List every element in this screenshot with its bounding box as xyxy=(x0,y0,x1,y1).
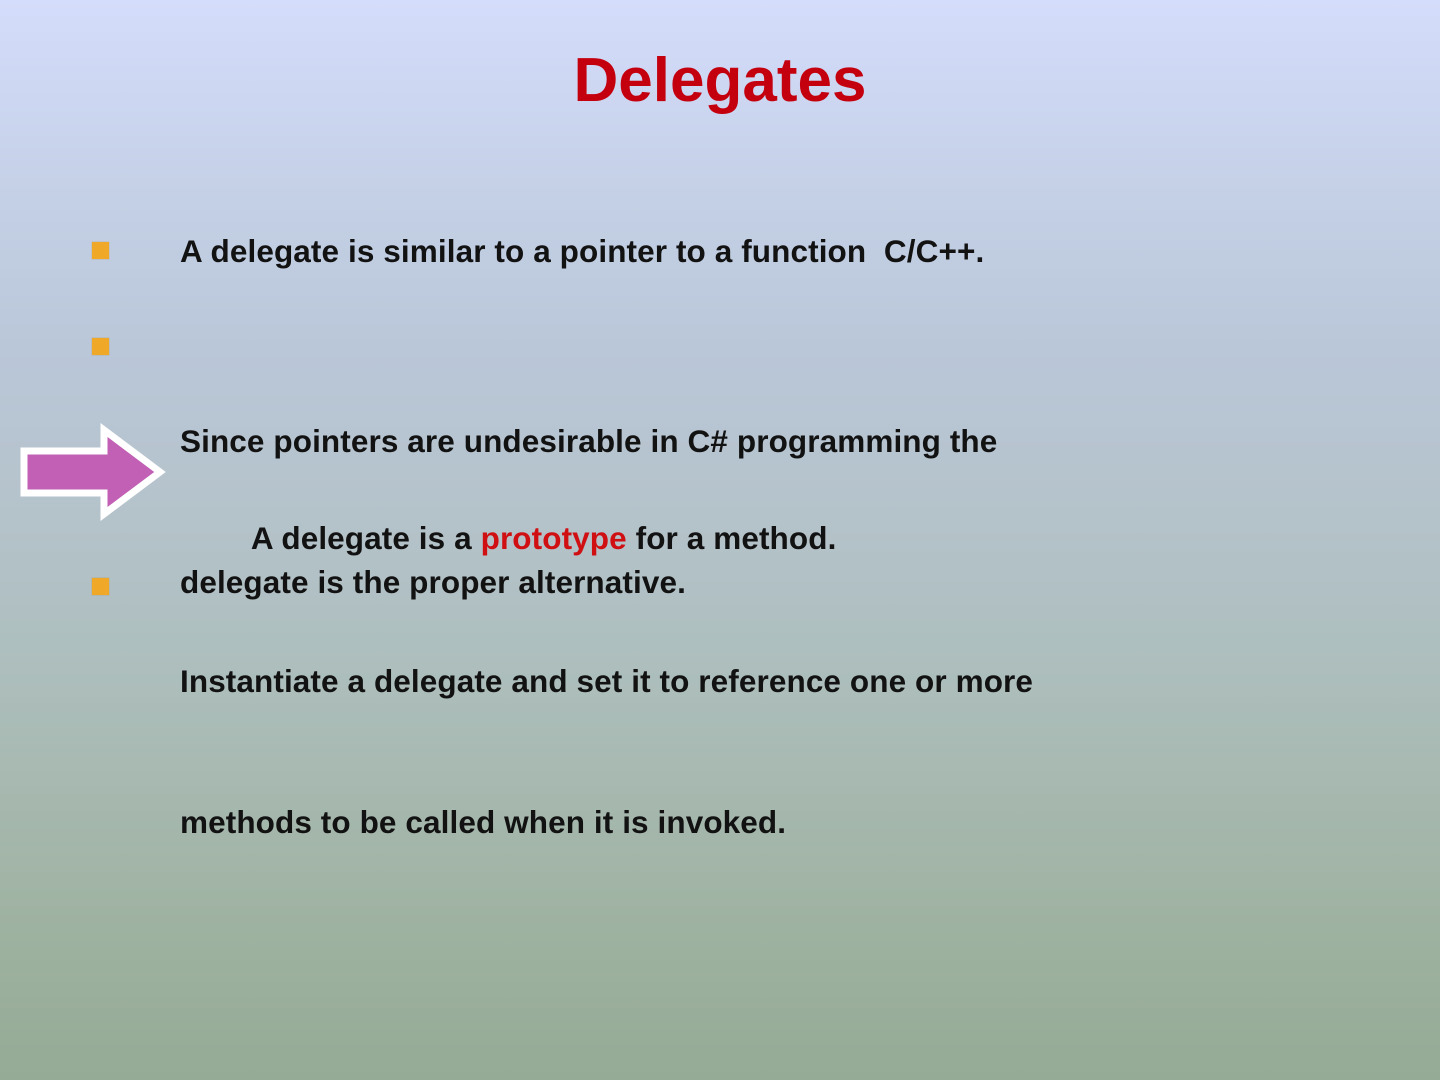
bullet-item-4-line-1: Instantiate a delegate and set it to ref… xyxy=(180,658,1290,705)
slide-body: A delegate is similar to a pointer to a … xyxy=(0,228,1440,708)
bullet-item-3-text-after: for a method. xyxy=(627,520,837,556)
square-bullet-icon xyxy=(92,578,109,595)
bullet-item-3-highlight: prototype xyxy=(481,520,627,556)
bullet-item-4-line-2: methods to be called when it is invoked. xyxy=(180,799,1290,846)
bullet-item-3-text-before: A delegate is a xyxy=(251,520,481,556)
page-title: Delegates xyxy=(0,48,1440,113)
square-bullet-icon xyxy=(92,242,109,259)
bullet-item-2-line-1: Since pointers are undesirable in C# pro… xyxy=(180,418,1290,465)
right-arrow-icon xyxy=(16,426,164,518)
slide-canvas: Delegates A delegate is similar to a poi… xyxy=(0,0,1440,1080)
bullet-item-1-text: A delegate is similar to a pointer to a … xyxy=(180,228,1290,275)
bullet-item-4-text: Instantiate a delegate and set it to ref… xyxy=(180,564,1290,940)
square-bullet-icon xyxy=(92,338,109,355)
